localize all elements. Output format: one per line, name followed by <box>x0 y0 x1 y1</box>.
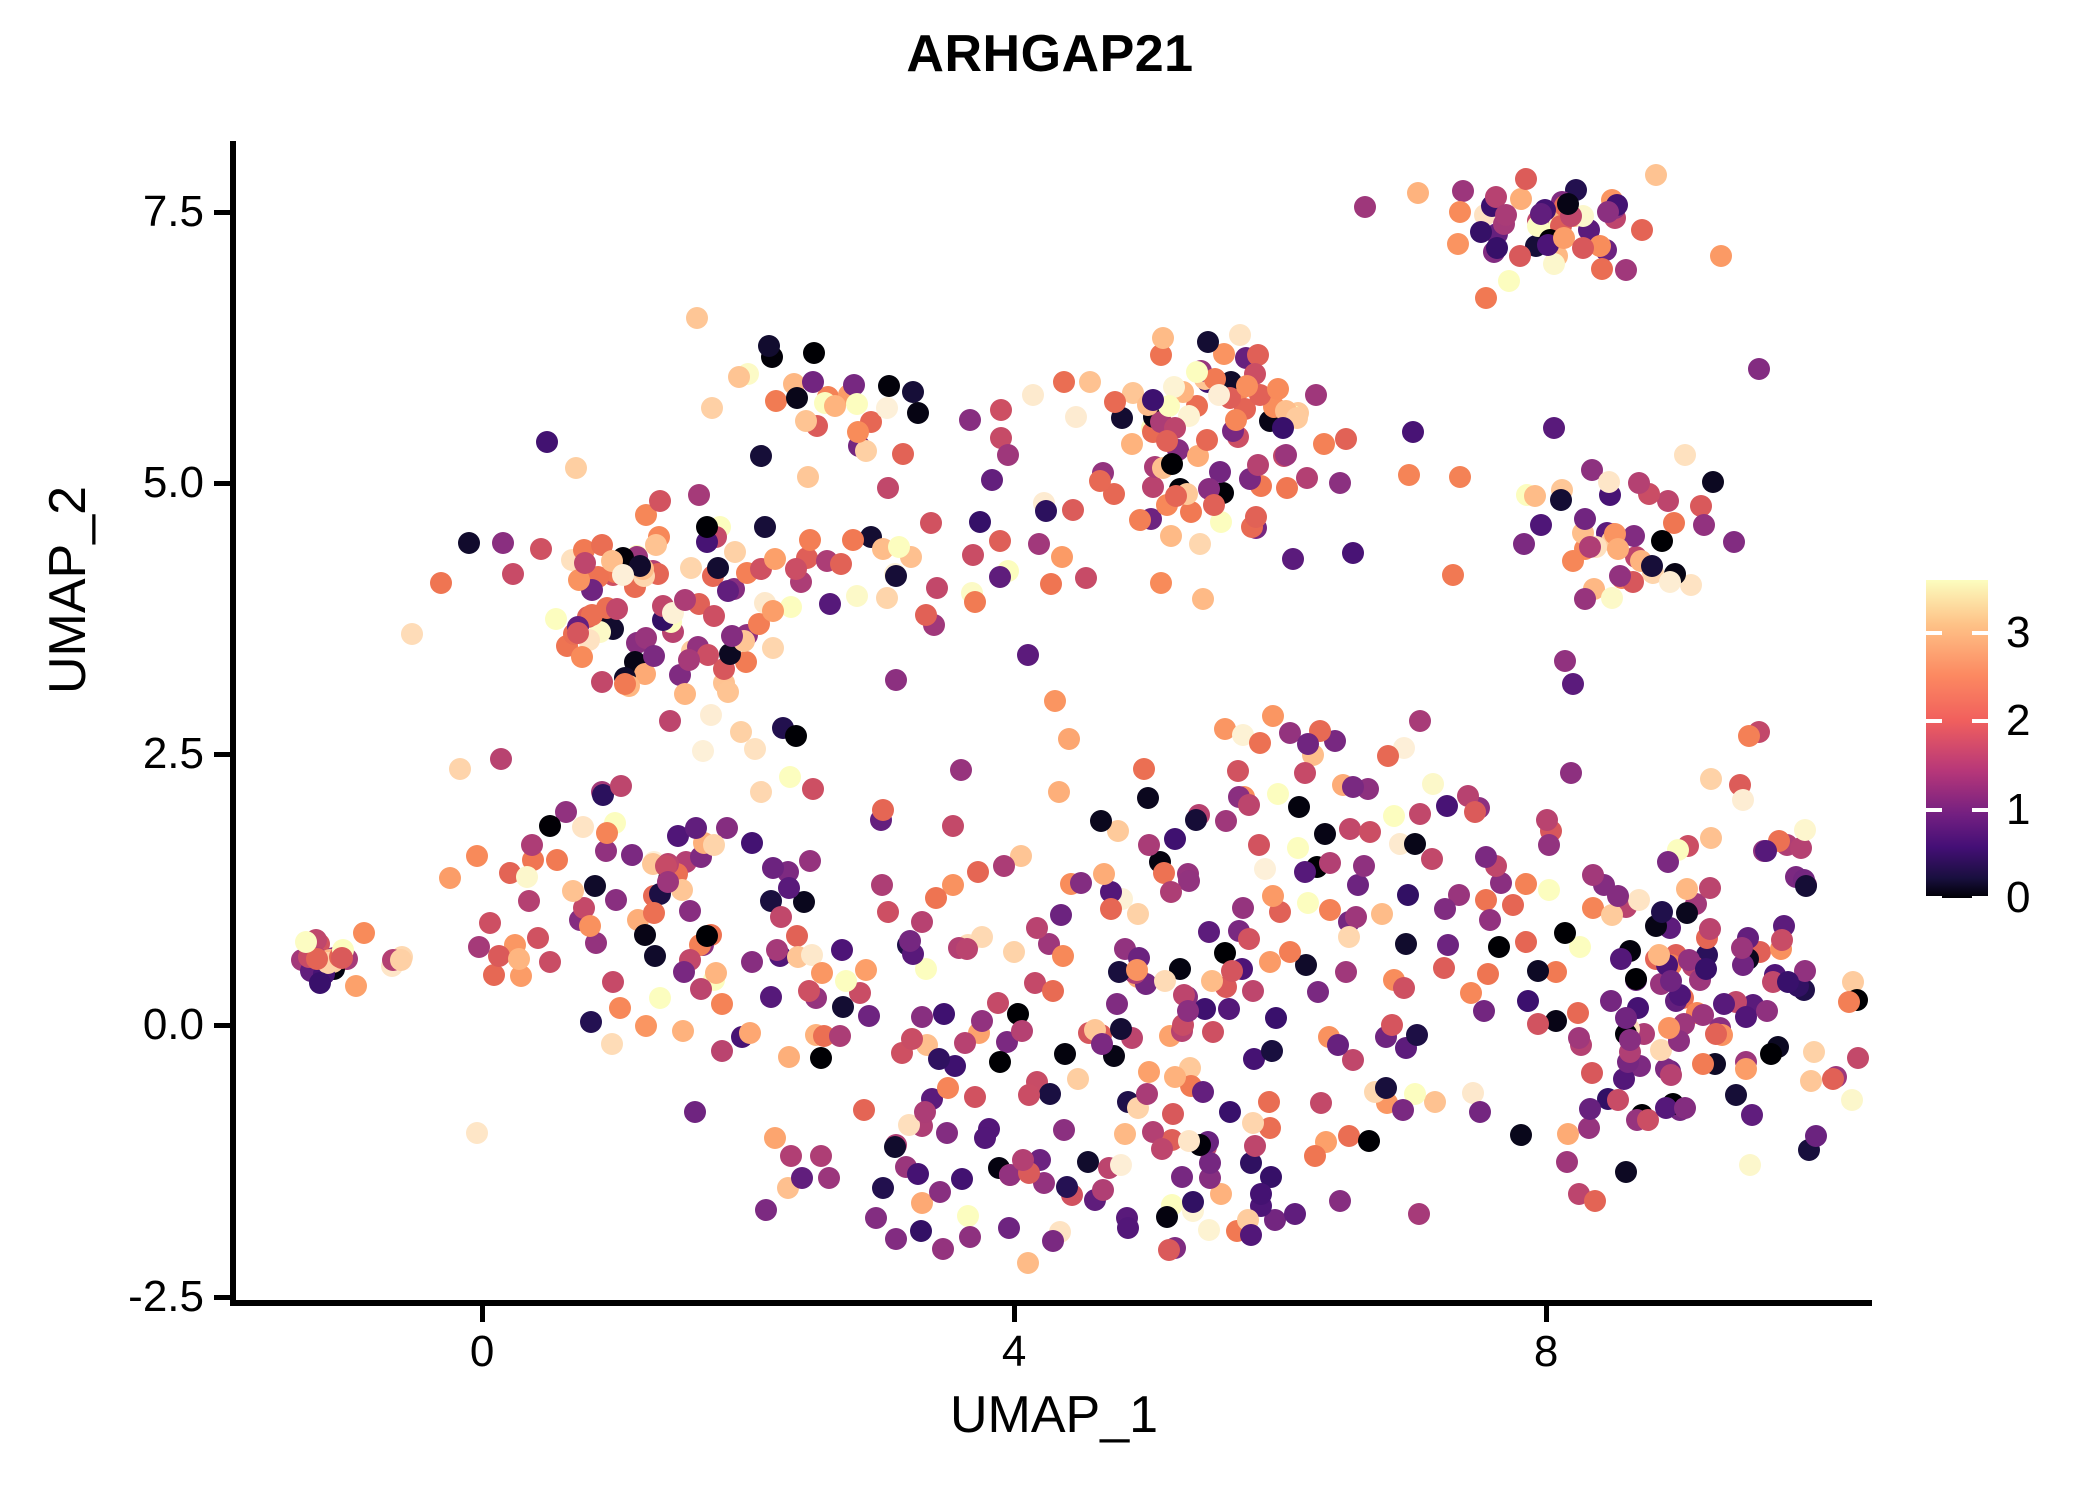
scatter-point <box>765 390 787 412</box>
scatter-point <box>1658 1017 1680 1039</box>
scatter-point <box>964 591 986 613</box>
scatter-point <box>942 815 964 837</box>
scatter-point <box>1039 1083 1061 1105</box>
y-tick-mark <box>214 1295 230 1300</box>
scatter-point <box>1171 1166 1193 1188</box>
scatter-point <box>819 593 841 615</box>
scatter-point <box>1409 803 1431 825</box>
scatter-point <box>766 939 788 961</box>
scatter-point <box>1442 564 1464 586</box>
scatter-point <box>539 815 561 837</box>
scatter-point <box>764 548 786 570</box>
x-axis-line <box>230 1300 1872 1306</box>
scatter-point <box>1510 1124 1532 1146</box>
scatter-point <box>483 964 505 986</box>
y-tick-mark <box>214 752 230 757</box>
scatter-point <box>458 532 480 554</box>
scatter-point <box>1359 821 1381 843</box>
scatter-point <box>1674 444 1696 466</box>
scatter-point <box>1538 879 1560 901</box>
scatter-point <box>872 1177 894 1199</box>
scatter-point <box>1625 968 1647 990</box>
scatter-point <box>1327 1034 1349 1056</box>
scatter-point <box>910 1220 932 1242</box>
plot-panel <box>236 141 1872 1302</box>
scatter-point <box>1254 858 1276 880</box>
scatter-point <box>1477 963 1499 985</box>
x-tick-mark <box>1012 1306 1017 1322</box>
scatter-point <box>877 901 899 923</box>
scatter-point <box>1110 1018 1132 1040</box>
scatter-point <box>1377 745 1399 767</box>
scatter-point <box>1154 970 1176 992</box>
scatter-point <box>957 1205 979 1227</box>
y-tick-mark <box>214 210 230 215</box>
scatter-point <box>1215 810 1237 832</box>
scatter-point <box>1338 926 1360 948</box>
scatter-point <box>1591 258 1613 280</box>
scatter-point <box>1262 705 1284 727</box>
scatter-point <box>688 484 710 506</box>
scatter-point <box>846 585 868 607</box>
scatter-point <box>643 902 665 924</box>
scatter-point <box>680 557 702 579</box>
scatter-point <box>701 397 723 419</box>
scatter-point <box>818 1167 840 1189</box>
scatter-point <box>449 758 471 780</box>
scatter-point <box>610 775 632 797</box>
x-tick-label: 0 <box>402 1330 562 1374</box>
scatter-point <box>962 544 984 566</box>
scatter-point <box>430 572 452 594</box>
scatter-point <box>1660 970 1682 992</box>
scatter-point <box>1104 391 1126 413</box>
scatter-point <box>770 906 792 928</box>
y-tick-label: -2.5 <box>40 1275 204 1319</box>
scatter-point <box>1409 710 1431 732</box>
scatter-point <box>1156 430 1178 452</box>
scatter-point <box>606 598 628 620</box>
scatter-point <box>1581 1062 1603 1084</box>
scatter-point <box>479 912 501 934</box>
scatter-point <box>1574 508 1596 530</box>
scatter-point <box>1579 1098 1601 1120</box>
scatter-point <box>1012 1149 1034 1171</box>
scatter-point <box>1407 182 1429 204</box>
scatter-point <box>1053 371 1075 393</box>
scatter-point <box>1699 918 1721 940</box>
scatter-point <box>750 781 772 803</box>
scatter-point <box>1452 180 1474 202</box>
scatter-point <box>1090 810 1112 832</box>
scatter-point <box>1475 889 1497 911</box>
scatter-point <box>755 1199 777 1221</box>
scatter-point <box>1479 909 1501 931</box>
scatter-point <box>901 1028 923 1050</box>
scatter-point <box>1464 801 1486 823</box>
scatter-point <box>1739 1154 1761 1176</box>
scatter-point <box>989 530 1011 552</box>
scatter-point <box>1100 898 1122 920</box>
colorbar-tick-label: 0 <box>2006 876 2030 920</box>
scatter-point <box>1395 933 1417 955</box>
scatter-point <box>1077 1151 1099 1173</box>
scatter-point <box>1247 454 1269 476</box>
scatter-point <box>1713 993 1735 1015</box>
scatter-point <box>1601 904 1623 926</box>
scatter-point <box>1748 358 1770 380</box>
scatter-point <box>892 443 914 465</box>
scatter-point <box>1732 789 1754 811</box>
scatter-point <box>739 1022 761 1044</box>
scatter-point <box>1110 1154 1132 1176</box>
scatter-point <box>969 511 991 533</box>
scatter-point <box>1106 993 1128 1015</box>
scatter-point <box>685 817 707 839</box>
scatter-point <box>989 566 1011 588</box>
scatter-point <box>786 387 808 409</box>
scatter-point <box>1198 1219 1220 1241</box>
scatter-point <box>502 563 524 585</box>
scatter-point <box>1610 948 1632 970</box>
scatter-point <box>605 889 627 911</box>
scatter-point <box>1676 902 1698 924</box>
scatter-point <box>1393 977 1415 999</box>
scatter-point <box>1092 1179 1114 1201</box>
scatter-point <box>911 911 933 933</box>
scatter-point <box>998 1217 1020 1239</box>
scatter-point <box>1725 1084 1747 1106</box>
scatter-point <box>1198 921 1220 943</box>
scatter-point <box>1527 960 1549 982</box>
scatter-point <box>971 1010 993 1032</box>
scatter-point <box>466 845 488 867</box>
scatter-point <box>1601 587 1623 609</box>
scatter-point <box>1598 471 1620 493</box>
scatter-point <box>490 748 512 770</box>
scatter-point <box>1219 1101 1241 1123</box>
scatter-point <box>758 335 780 357</box>
y-tick-label: 7.5 <box>40 190 204 234</box>
scatter-point <box>536 431 558 453</box>
scatter-point <box>686 307 708 329</box>
scatter-point <box>786 925 808 947</box>
scatter-point <box>1133 758 1155 780</box>
scatter-point <box>1127 903 1149 925</box>
scatter-point <box>1615 1161 1637 1183</box>
y-tick-mark <box>214 481 230 486</box>
scatter-point <box>907 1163 929 1185</box>
scatter-point <box>1631 219 1653 241</box>
scatter-point <box>1433 957 1455 979</box>
scatter-point <box>1700 827 1722 849</box>
scatter-point <box>1262 885 1284 907</box>
scatter-point <box>692 740 714 762</box>
scatter-point <box>1597 201 1619 223</box>
scatter-point <box>539 951 561 973</box>
scatter-point <box>1142 389 1164 411</box>
scatter-point <box>1434 898 1456 920</box>
scatter-point <box>649 490 671 512</box>
scatter-point <box>1488 936 1510 958</box>
scatter-point <box>1192 588 1214 610</box>
scatter-point <box>1138 1061 1160 1083</box>
scatter-point <box>1538 834 1560 856</box>
scatter-point <box>1498 270 1520 292</box>
scatter-point <box>1075 567 1097 589</box>
scatter-point <box>1307 981 1329 1003</box>
scatter-point <box>1079 371 1101 393</box>
scatter-point <box>584 875 606 897</box>
scatter-point <box>678 649 700 671</box>
scatter-point <box>1800 1070 1822 1092</box>
x-tick-mark <box>480 1306 485 1322</box>
scatter-point <box>1196 429 1218 451</box>
scatter-point <box>877 477 899 499</box>
scatter-point <box>1794 819 1816 841</box>
scatter-point <box>1402 421 1424 443</box>
scatter-point <box>1151 1138 1173 1160</box>
y-axis-line <box>230 141 236 1306</box>
scatter-point <box>981 469 1003 491</box>
scatter-point <box>1607 885 1629 907</box>
scatter-point <box>858 1005 880 1027</box>
scatter-point <box>1052 945 1074 967</box>
scatter-point <box>609 997 631 1019</box>
scatter-point <box>1050 904 1072 926</box>
scatter-point <box>1335 428 1357 450</box>
scatter-point <box>1657 851 1679 873</box>
scatter-point <box>1524 485 1546 507</box>
scatter-point <box>1560 762 1582 784</box>
scatter-point <box>1310 1092 1332 1114</box>
scatter-point <box>785 558 807 580</box>
scatter-point <box>1267 378 1289 400</box>
scatter-point <box>697 644 719 666</box>
scatter-point <box>1822 1068 1844 1090</box>
scatter-point <box>545 608 567 630</box>
scatter-point <box>1562 673 1584 695</box>
scatter-point <box>309 972 331 994</box>
scatter-point <box>1735 1058 1757 1080</box>
scatter-point <box>1475 287 1497 309</box>
scatter-point <box>802 778 824 800</box>
scatter-point <box>1705 1023 1727 1045</box>
scatter-point <box>1067 1068 1089 1090</box>
scatter-point <box>920 512 942 534</box>
scatter-point <box>602 971 624 993</box>
scatter-point <box>750 445 772 467</box>
scatter-point <box>1578 1117 1600 1139</box>
scatter-point <box>1227 760 1249 782</box>
scatter-point <box>621 844 643 866</box>
scatter-point <box>1276 477 1298 499</box>
scatter-point <box>567 622 589 644</box>
scatter-point <box>915 604 937 626</box>
x-tick-label: 4 <box>934 1330 1094 1374</box>
scatter-point <box>580 1011 602 1033</box>
scatter-point <box>521 834 543 856</box>
scatter-point <box>762 600 784 622</box>
scatter-point <box>1051 546 1073 568</box>
scatter-point <box>1657 490 1679 512</box>
scatter-point <box>1287 837 1309 859</box>
scatter-point <box>1218 998 1240 1020</box>
scatter-point <box>717 681 739 703</box>
scatter-point <box>1543 253 1565 275</box>
scatter-point <box>1615 259 1637 281</box>
scatter-point <box>1495 204 1517 226</box>
colorbar-tick-mark <box>1926 808 1988 812</box>
scatter-point <box>993 855 1015 877</box>
scatter-point <box>1607 1089 1629 1111</box>
scatter-point <box>439 867 461 889</box>
scatter-point <box>1182 1191 1204 1213</box>
scatter-point <box>1249 732 1271 754</box>
scatter-point <box>1126 959 1148 981</box>
scatter-point <box>1557 1123 1579 1145</box>
scatter-point <box>1238 928 1260 950</box>
scatter-point <box>810 1145 832 1167</box>
scatter-point <box>1258 1091 1280 1113</box>
scatter-point <box>530 538 552 560</box>
scatter-point <box>1645 164 1667 186</box>
scatter-point <box>703 605 725 627</box>
scatter-point <box>1342 776 1364 798</box>
scatter-point <box>810 1047 832 1069</box>
scatter-point <box>974 1127 996 1149</box>
scatter-point <box>1486 237 1508 259</box>
scatter-point <box>1353 855 1375 877</box>
scatter-point <box>779 766 801 788</box>
scatter-point <box>853 1099 875 1121</box>
scatter-point <box>707 557 729 579</box>
scatter-point <box>1397 884 1419 906</box>
scatter-point <box>643 645 665 667</box>
scatter-point <box>1028 533 1050 555</box>
scatter-point <box>1189 533 1211 555</box>
scatter-point <box>1659 571 1681 593</box>
scatter-point <box>1261 1040 1283 1062</box>
y-tick-label: 0.0 <box>40 1003 204 1047</box>
scatter-point <box>1284 1203 1306 1225</box>
scatter-point <box>831 939 853 961</box>
scatter-point <box>1354 196 1376 218</box>
scatter-point <box>1710 245 1732 267</box>
scatter-point <box>1660 1064 1682 1086</box>
scatter-point <box>1117 1217 1139 1239</box>
scatter-point <box>959 409 981 431</box>
scatter-point <box>1700 768 1722 790</box>
scatter-point <box>964 1086 986 1108</box>
chart-root: ARHGAP21 -2.50.02.55.07.5 048 UMAP_2 UMA… <box>0 0 2100 1500</box>
colorbar-legend: 3210 <box>1926 580 2096 900</box>
scatter-point <box>1114 1123 1136 1145</box>
scatter-point <box>1160 881 1182 903</box>
scatter-point <box>1208 384 1230 406</box>
scatter-point <box>936 1122 958 1144</box>
scatter-point <box>876 587 898 609</box>
scatter-point <box>1329 1190 1351 1212</box>
scatter-point <box>1838 991 1860 1013</box>
scatter-point <box>1282 548 1304 570</box>
scatter-point <box>1178 1130 1200 1152</box>
scatter-point <box>1803 1041 1825 1063</box>
scatter-point <box>911 1006 933 1028</box>
scatter-point <box>295 931 317 953</box>
scatter-point <box>885 1228 907 1250</box>
scatter-point <box>1699 877 1721 899</box>
scatter-point <box>1738 725 1760 747</box>
scatter-point <box>902 381 924 403</box>
scatter-point <box>1674 1097 1696 1119</box>
scatter-point <box>1847 1047 1869 1069</box>
scatter-point <box>1651 530 1673 552</box>
scatter-points-layer <box>236 141 1872 1302</box>
scatter-point <box>932 1238 954 1260</box>
scatter-point <box>799 529 821 551</box>
scatter-point <box>1162 1103 1184 1125</box>
scatter-point <box>1795 875 1817 897</box>
scatter-point <box>762 637 784 659</box>
scatter-point <box>799 850 821 872</box>
scatter-point <box>928 1048 950 1070</box>
scatter-point <box>956 938 978 960</box>
scatter-point <box>527 927 549 949</box>
scatter-point <box>1421 848 1443 870</box>
scatter-point <box>1513 533 1535 555</box>
scatter-point <box>1011 1020 1033 1042</box>
scatter-point <box>1760 1043 1782 1065</box>
colorbar-tick-mark <box>1926 631 1988 635</box>
scatter-point <box>1203 494 1225 516</box>
scatter-point <box>1138 834 1160 856</box>
scatter-point <box>492 532 514 554</box>
scatter-point <box>1056 1176 1078 1198</box>
scatter-point <box>830 553 852 575</box>
scatter-point <box>871 874 893 896</box>
scatter-point <box>1515 931 1537 953</box>
scatter-point <box>390 949 412 971</box>
scatter-point <box>1515 168 1537 190</box>
scatter-point <box>562 880 584 902</box>
scatter-point <box>1339 818 1361 840</box>
scatter-point <box>401 623 423 645</box>
scatter-point <box>847 421 869 443</box>
scatter-point <box>926 577 948 599</box>
scatter-point <box>967 861 989 883</box>
scatter-point <box>803 342 825 364</box>
scatter-point <box>1335 961 1357 983</box>
scatter-point <box>1202 1021 1224 1043</box>
scatter-point <box>760 986 782 1008</box>
scatter-point <box>1065 406 1087 428</box>
colorbar-tick-mark <box>1926 719 1988 723</box>
scatter-point <box>466 1122 488 1144</box>
x-tick-label: 8 <box>1466 1330 1626 1374</box>
scatter-point <box>778 1046 800 1068</box>
scatter-point <box>1584 1190 1606 1212</box>
scatter-point <box>1192 1081 1214 1103</box>
scatter-point <box>933 1003 955 1025</box>
scatter-point <box>855 959 877 981</box>
scatter-point <box>1437 934 1459 956</box>
scatter-point <box>1267 783 1289 805</box>
scatter-point <box>824 395 846 417</box>
scatter-point <box>601 1033 623 1055</box>
colorbar-gradient <box>1926 580 1988 898</box>
scatter-point <box>672 1020 694 1042</box>
